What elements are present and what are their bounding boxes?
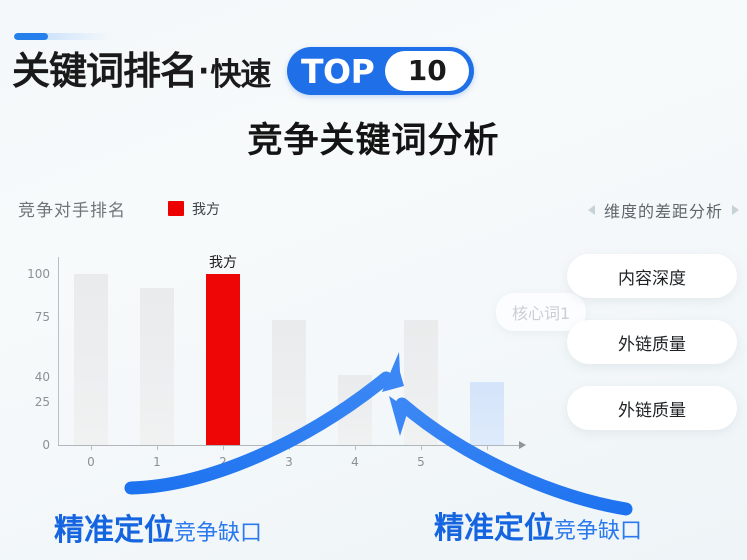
x-axis-tick-label: 1 <box>153 455 161 469</box>
y-axis-tick-label: 100 <box>14 267 50 281</box>
x-axis-tick <box>355 445 356 450</box>
page-title: 竞争关键词分析 <box>0 112 747 163</box>
caption-right: 精准定位 竞争缺口 <box>434 503 642 547</box>
y-axis-tick-label: 75 <box>14 310 50 324</box>
triangle-left-icon[interactable] <box>588 205 595 215</box>
x-axis-tick <box>289 445 290 450</box>
y-axis-labels: 1007540250 <box>14 250 50 445</box>
title-sub: 快速 <box>210 49 270 94</box>
bar-chart: 1007540250 我方 0123455 <box>14 250 534 460</box>
caption-left-strong: 精准定位 <box>54 505 174 549</box>
x-axis-tick <box>421 445 422 450</box>
progress-bar <box>14 33 114 40</box>
bar-competitor[interactable] <box>338 375 372 445</box>
caption-right-strong: 精准定位 <box>434 503 554 547</box>
dimension-card-list: 内容深度外链质量外链质量 <box>567 254 737 452</box>
x-axis-tick <box>223 445 224 450</box>
x-axis-tick <box>91 445 92 450</box>
x-axis-arrow-icon <box>519 441 526 449</box>
x-axis-tick-label: 5 <box>483 455 491 469</box>
dimension-card[interactable]: 外链质量 <box>567 386 737 430</box>
top-badge-number: 10 <box>408 57 447 85</box>
bar-series: 我方 <box>58 250 520 445</box>
page-title-text: 竞争关键词分析 <box>247 121 499 161</box>
x-axis-tick-label: 5 <box>417 455 425 469</box>
x-axis-tick <box>487 445 488 450</box>
x-axis-tick <box>157 445 158 450</box>
caption-left: 精准定位 竞争缺口 <box>54 505 262 549</box>
triangle-right-icon[interactable] <box>732 205 739 215</box>
x-axis-tick-label: 3 <box>285 455 293 469</box>
dimension-card[interactable]: 内容深度 <box>567 254 737 298</box>
top-badge-label: TOP <box>301 55 374 88</box>
legend-swatch-icon <box>168 201 184 216</box>
bar-competitor[interactable] <box>404 320 438 445</box>
title-row: 关键词排名 · 快速 <box>12 46 270 96</box>
dimension-title: 维度的差距分析 <box>604 198 723 222</box>
title-separator-dot: · <box>198 54 209 89</box>
bar-value-label: 我方 <box>209 252 237 272</box>
x-axis-tick-label: 2 <box>219 455 227 469</box>
top-badge: TOP 10 <box>287 47 474 95</box>
bar-target-gap[interactable] <box>470 382 504 445</box>
x-axis-tick-label: 4 <box>351 455 359 469</box>
dimension-card[interactable]: 外链质量 <box>567 320 737 364</box>
y-axis-tick-label: 25 <box>14 395 50 409</box>
y-axis-tick-label: 0 <box>14 438 50 452</box>
dimension-header: 维度的差距分析 <box>588 198 739 222</box>
caption-left-weak: 竞争缺口 <box>174 515 262 547</box>
top-badge-number-pill: 10 <box>385 51 469 91</box>
chart-header: 竞争对手排名 我方 <box>18 196 220 221</box>
title-main: 关键词排名 <box>12 52 197 90</box>
y-axis-tick-label: 40 <box>14 370 50 384</box>
caption-right-weak: 竞争缺口 <box>554 513 642 545</box>
chart-title: 竞争对手排名 <box>18 196 126 221</box>
bar-highlighted-mine[interactable] <box>206 274 240 445</box>
legend-label: 我方 <box>192 199 220 219</box>
bar-competitor[interactable] <box>140 288 174 445</box>
bar-competitor[interactable] <box>74 274 108 445</box>
slide-canvas: 关键词排名 · 快速 TOP 10 竞争关键词分析 竞争对手排名 我方 维度的差… <box>0 0 747 560</box>
progress-fill <box>14 33 48 40</box>
x-axis-tick-label: 0 <box>87 455 95 469</box>
bar-competitor[interactable] <box>272 320 306 445</box>
chart-legend: 我方 <box>168 199 220 219</box>
